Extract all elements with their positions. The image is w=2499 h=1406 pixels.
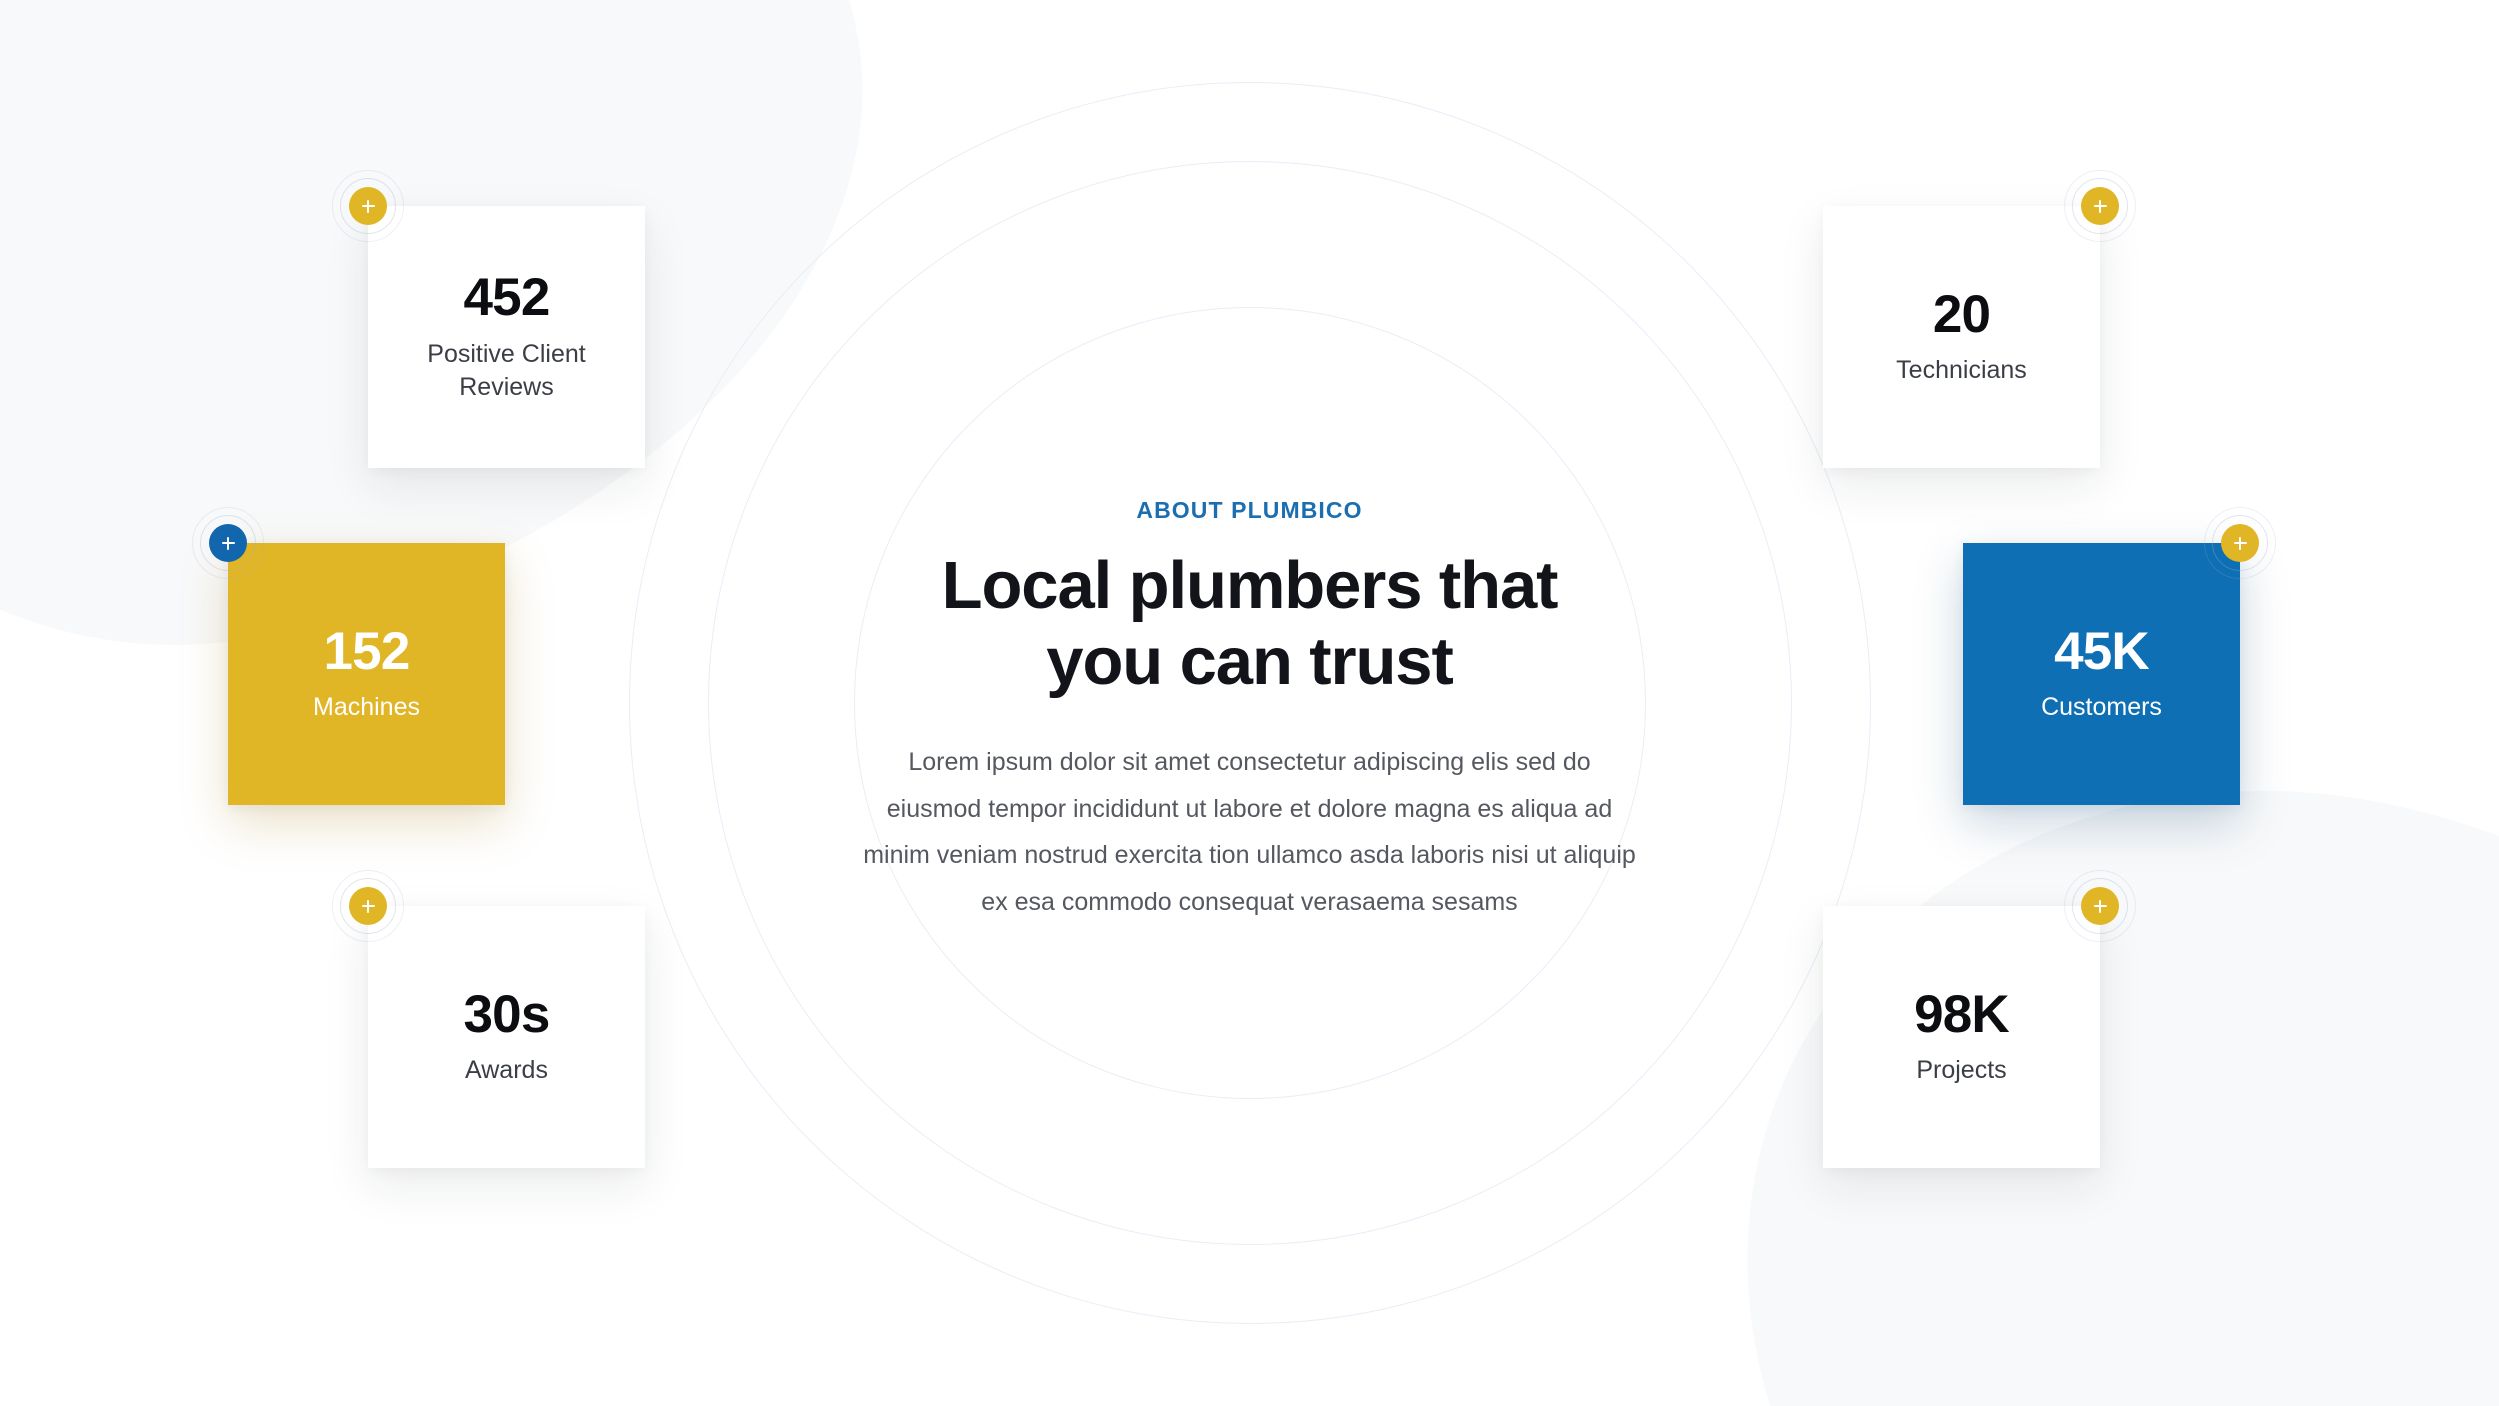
about-copy-block: ABOUT PLUMBICO Local plumbers that you c… [860, 499, 1640, 925]
stat-value-projects: 98K [1914, 987, 2009, 1043]
stat-label-customers: Customers [2041, 691, 2162, 724]
plus-glyph [2234, 537, 2247, 550]
stat-card-machines[interactable]: 152Machines [228, 543, 505, 805]
plus-glyph [362, 200, 375, 213]
plus-icon[interactable] [209, 524, 247, 562]
plus-icon[interactable] [2221, 524, 2259, 562]
stat-card-body-technicians[interactable]: 20Technicians [1823, 206, 2100, 468]
stat-card-body-machines[interactable]: 152Machines [228, 543, 505, 805]
stat-card-customers[interactable]: 45KCustomers [1963, 543, 2240, 805]
plus-icon[interactable] [349, 187, 387, 225]
stat-card-awards[interactable]: 30sAwards [368, 906, 645, 1168]
stat-value-positive-client-reviews: 452 [463, 270, 549, 326]
plus-glyph [362, 900, 375, 913]
section-eyebrow: ABOUT PLUMBICO [860, 499, 1640, 522]
plus-glyph [2094, 200, 2107, 213]
stat-value-customers: 45K [2054, 624, 2149, 680]
plus-icon[interactable] [349, 887, 387, 925]
stat-card-body-positive-client-reviews[interactable]: 452Positive Client Reviews [368, 206, 645, 468]
stat-value-technicians: 20 [1933, 287, 1990, 343]
about-paragraph: Lorem ipsum dolor sit amet consectetur a… [860, 739, 1640, 925]
stat-card-projects[interactable]: 98KProjects [1823, 906, 2100, 1168]
stat-label-positive-client-reviews: Positive Client Reviews [386, 338, 627, 404]
stat-label-machines: Machines [313, 691, 420, 724]
stat-value-machines: 152 [323, 624, 409, 680]
stat-label-projects: Projects [1916, 1054, 2006, 1087]
stat-card-body-projects[interactable]: 98KProjects [1823, 906, 2100, 1168]
plus-glyph [2094, 900, 2107, 913]
stat-card-positive-client-reviews[interactable]: 452Positive Client Reviews [368, 206, 645, 468]
stat-card-body-awards[interactable]: 30sAwards [368, 906, 645, 1168]
plus-icon[interactable] [2081, 887, 2119, 925]
stat-value-awards: 30s [463, 987, 549, 1043]
stat-label-awards: Awards [465, 1054, 548, 1087]
stat-card-technicians[interactable]: 20Technicians [1823, 206, 2100, 468]
plus-glyph [222, 537, 235, 550]
about-stats-section: ABOUT PLUMBICO Local plumbers that you c… [0, 0, 2499, 1406]
stat-card-body-customers[interactable]: 45KCustomers [1963, 543, 2240, 805]
plus-icon[interactable] [2081, 187, 2119, 225]
page-title: Local plumbers that you can trust [860, 548, 1640, 699]
stat-label-technicians: Technicians [1896, 354, 2027, 387]
